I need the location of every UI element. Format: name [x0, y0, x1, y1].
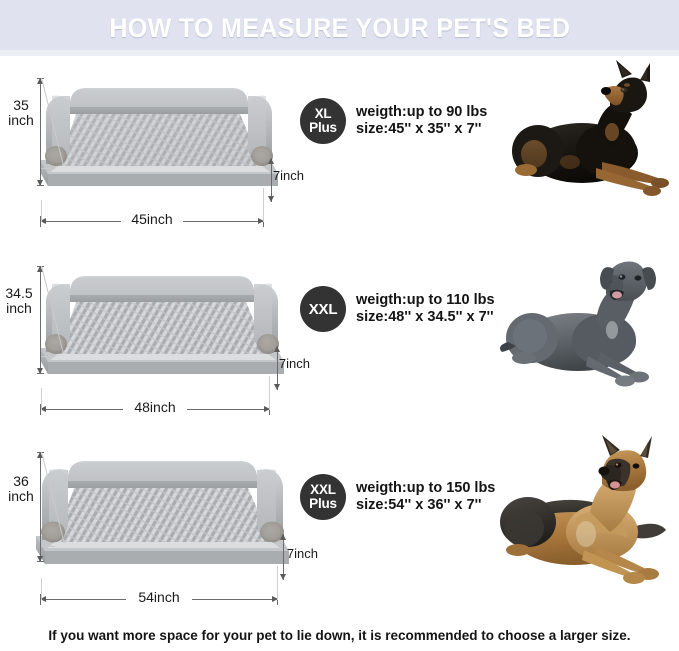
- size-text: size:48'' x 34.5'' x 7'': [356, 309, 495, 326]
- arrow-down-icon: [268, 196, 274, 202]
- dog-photo: [500, 244, 679, 432]
- depth-unit: inch: [0, 301, 40, 316]
- depth-guide-base: [41, 168, 55, 169]
- bed-diagram: 34.5 inch 48inch 7inch: [0, 244, 300, 432]
- height-label: 7inch: [273, 168, 304, 183]
- depth-unit: inch: [2, 489, 40, 504]
- badge-line-1: XXL: [310, 483, 336, 497]
- bed-illustration: [30, 448, 296, 576]
- footer-note: If you want more space for your pet to l…: [0, 628, 679, 643]
- bed-diagram: 35 inch 45inch 7inch: [0, 56, 300, 244]
- height-label: 7inch: [279, 356, 310, 371]
- badge-line-1: XL: [315, 107, 332, 121]
- width-extension-left: [41, 578, 42, 600]
- depth-value: 35: [13, 97, 29, 113]
- dog-photo: [500, 432, 679, 620]
- height-dimension-line: [277, 346, 278, 390]
- size-info: XXL weigth:up to 110 lbs size:48'' x 34.…: [300, 244, 500, 332]
- width-label: 48inch: [40, 399, 270, 415]
- badge-line-2: Plus: [309, 497, 337, 511]
- arrow-up-icon: [274, 346, 280, 352]
- width-extension-right: [277, 566, 278, 600]
- size-rows: 35 inch 45inch 7inch: [0, 56, 679, 620]
- width-dimension-line: 54inch: [40, 599, 278, 600]
- width-label: 54inch: [40, 589, 278, 605]
- size-info: XL Plus weigth:up to 90 lbs size:45'' x …: [300, 56, 500, 144]
- size-row: 34.5 inch 48inch 7inch: [0, 244, 679, 432]
- german-shepherd-illustration: [490, 434, 675, 589]
- depth-dimension-line: [40, 266, 41, 374]
- arrow-down-icon: [280, 574, 286, 580]
- size-badge: XL Plus: [300, 98, 346, 144]
- depth-dimension-line: [40, 78, 41, 186]
- depth-guide-base: [41, 546, 55, 547]
- height-dimension-line: [271, 158, 272, 202]
- size-row: 36 inch 54inch 7inch: [0, 432, 679, 620]
- width-label: 45inch: [40, 211, 264, 227]
- arrow-down-icon: [274, 384, 280, 390]
- width-extension-left: [41, 200, 42, 222]
- height-label: 7inch: [287, 546, 318, 561]
- depth-dimension-label: 34.5 inch: [0, 286, 40, 316]
- height-dimension-line: [283, 534, 284, 580]
- dog-photo: [500, 56, 679, 244]
- spec-text: weigth:up to 110 lbs size:48'' x 34.5'' …: [356, 292, 495, 326]
- doberman-illustration: [510, 58, 675, 208]
- arrow-up-icon: [268, 158, 274, 164]
- great-dane-illustration: [500, 246, 675, 396]
- width-extension-right: [263, 188, 264, 222]
- bed-diagram: 36 inch 54inch 7inch: [0, 432, 300, 620]
- badge-line-1: XXL: [309, 302, 338, 317]
- depth-dimension-label: 36 inch: [2, 474, 40, 504]
- size-info: XXL Plus weigth:up to 150 lbs size:54'' …: [300, 432, 500, 520]
- width-dimension-line: 48inch: [40, 409, 270, 410]
- depth-dimension-label: 35 inch: [2, 98, 40, 128]
- size-badge: XXL Plus: [300, 474, 346, 520]
- depth-unit: inch: [2, 113, 40, 128]
- size-badge: XXL: [300, 286, 346, 332]
- page-header: HOW TO MEASURE YOUR PET'S BED: [0, 0, 679, 56]
- width-dimension-line: 45inch: [40, 221, 264, 222]
- size-row: 35 inch 45inch 7inch: [0, 56, 679, 244]
- weight-text: weigth:up to 90 lbs: [356, 104, 487, 121]
- spec-text: weigth:up to 90 lbs size:45'' x 35'' x 7…: [356, 104, 487, 138]
- size-text: size:54'' x 36'' x 7'': [356, 497, 495, 514]
- spec-text: weigth:up to 150 lbs size:54'' x 36'' x …: [356, 480, 495, 514]
- arrow-down-icon: [37, 180, 43, 186]
- bed-graphic: [30, 448, 296, 576]
- weight-text: weigth:up to 150 lbs: [356, 480, 495, 497]
- bed-graphic: [34, 262, 290, 387]
- arrow-down-icon: [37, 368, 43, 374]
- depth-value: 34.5: [5, 285, 32, 301]
- depth-value: 36: [13, 473, 29, 489]
- bed-graphic: [34, 74, 284, 199]
- bed-illustration: [34, 74, 284, 199]
- page-title: HOW TO MEASURE YOUR PET'S BED: [109, 13, 570, 44]
- arrow-up-icon: [280, 534, 286, 540]
- bed-illustration: [34, 262, 290, 387]
- arrow-down-icon: [37, 556, 43, 562]
- width-extension-right: [269, 376, 270, 410]
- size-text: size:45'' x 35'' x 7'': [356, 121, 487, 138]
- weight-text: weigth:up to 110 lbs: [356, 292, 495, 309]
- depth-guide-base: [41, 356, 55, 357]
- width-extension-left: [41, 388, 42, 410]
- badge-line-2: Plus: [309, 121, 337, 135]
